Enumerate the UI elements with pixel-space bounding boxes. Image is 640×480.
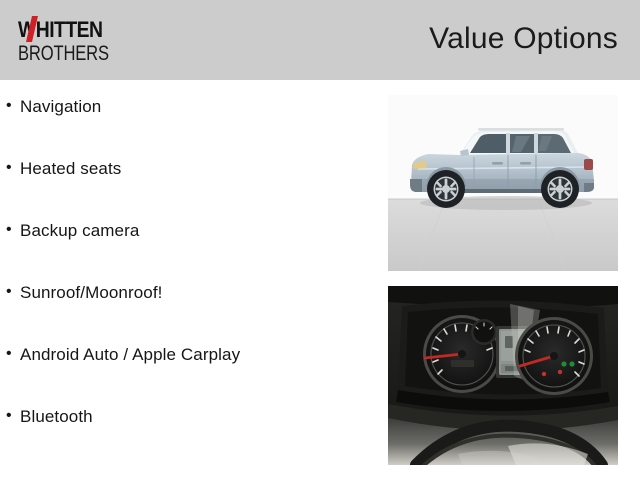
list-item: • Heated seats [6,158,366,220]
bullet-icon: • [6,220,20,240]
list-item-label: Android Auto / Apple Carplay [20,344,366,365]
presentation-slide: WHITTEN BROTHERS Value Options • Navigat… [0,0,640,480]
bullet-icon: • [6,96,20,116]
vehicle-exterior-illustration [388,95,618,271]
list-item-label: Backup camera [20,220,366,241]
list-item-label: Sunroof/Moonroof! [20,282,366,303]
bullet-icon: • [6,282,20,302]
list-item-label: Navigation [20,96,366,117]
logo-wordmark: WHITTEN [18,19,114,43]
page-title: Value Options [429,22,618,56]
list-item-label: Heated seats [20,158,366,179]
feature-bullet-list: • Navigation • Heated seats • Backup cam… [6,96,366,468]
vehicle-exterior-photo [388,95,618,271]
list-item: • Bluetooth [6,406,366,468]
bullet-icon: • [6,406,20,426]
instrument-cluster-illustration [388,286,618,465]
bullet-icon: • [6,344,20,364]
list-item: • Android Auto / Apple Carplay [6,344,366,406]
dealer-logo: WHITTEN BROTHERS [18,19,114,65]
list-item-label: Bluetooth [20,406,366,427]
logo-text-brothers: BROTHERS [18,43,109,64]
bullet-icon: • [6,158,20,178]
list-item: • Backup camera [6,220,366,282]
list-item: • Navigation [6,96,366,158]
instrument-cluster-photo [388,286,618,465]
list-item: • Sunroof/Moonroof! [6,282,366,344]
